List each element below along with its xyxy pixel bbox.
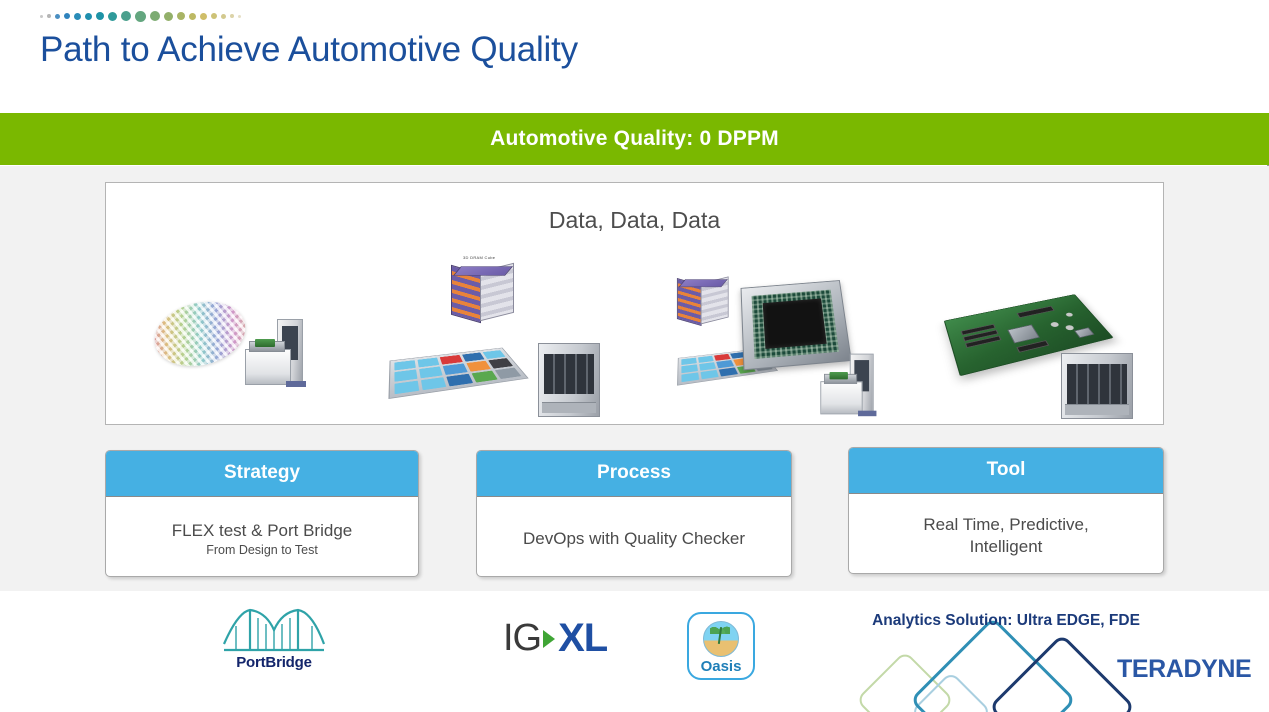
card-tool-text: Real Time, Predictive, Intelligent bbox=[886, 514, 1126, 557]
silicon-wafer-icon bbox=[154, 303, 246, 365]
logo-oasis: Oasis bbox=[687, 612, 755, 680]
decorative-dot bbox=[74, 13, 81, 20]
decorative-dot bbox=[221, 14, 226, 19]
slide-footer: PortBridge IG XL Oasis Analytics Solutio… bbox=[0, 591, 1269, 712]
die-map-cell bbox=[443, 364, 467, 375]
slide: Path to Achieve Automotive Quality Autom… bbox=[0, 0, 1269, 712]
card-tool-heading: Tool bbox=[849, 448, 1163, 494]
card-tool[interactable]: Tool Real Time, Predictive, Intelligent bbox=[848, 447, 1164, 574]
oasis-palm-icon bbox=[703, 621, 739, 657]
decorative-dot bbox=[40, 15, 43, 18]
play-arrow-icon bbox=[543, 630, 555, 648]
test-handler-icon bbox=[820, 354, 873, 415]
decorative-dot bbox=[200, 13, 207, 20]
decorative-dot bbox=[135, 11, 146, 22]
decorative-dot bbox=[177, 12, 185, 20]
suspension-bridge-icon bbox=[222, 604, 326, 654]
slide-body: Data, Data, Data 3D DRAM Cube bbox=[0, 166, 1269, 591]
die-map-icon bbox=[391, 338, 519, 400]
die-map-cell bbox=[488, 358, 513, 368]
die-map-cell bbox=[395, 380, 420, 394]
die-map-cell bbox=[719, 367, 738, 376]
die-map-cell bbox=[495, 367, 522, 379]
die-map-cell bbox=[681, 372, 699, 382]
decorative-dot bbox=[47, 14, 51, 18]
logo-oasis-label: Oasis bbox=[701, 658, 742, 675]
logo-igxl: IG XL bbox=[503, 616, 607, 661]
page-title: Path to Achieve Automotive Quality bbox=[40, 30, 578, 70]
decorative-dot bbox=[189, 13, 196, 20]
logo-portbridge: PortBridge bbox=[222, 604, 326, 654]
card-strategy-heading: Strategy bbox=[106, 451, 418, 497]
wafer-prober-icon bbox=[245, 319, 303, 385]
die-map-cell bbox=[421, 377, 447, 390]
slide-header: Path to Achieve Automotive Quality bbox=[0, 0, 1269, 113]
decorative-dot bbox=[55, 14, 60, 19]
decorative-dot bbox=[85, 13, 92, 20]
die-map-cell bbox=[447, 374, 473, 387]
automotive-quality-banner: Automotive Quality: 0 DPPM bbox=[0, 113, 1269, 165]
ict-tester-icon bbox=[1061, 353, 1133, 419]
die-map-cell bbox=[466, 361, 490, 372]
decorative-dot bbox=[238, 15, 241, 18]
die-map-cell bbox=[394, 370, 417, 382]
data-panel-title: Data, Data, Data bbox=[106, 207, 1163, 234]
decorative-dot bbox=[150, 11, 160, 21]
decorative-dot bbox=[211, 13, 217, 19]
stacked-memory-die-icon: 3D DRAM Cube bbox=[451, 263, 517, 325]
logo-portbridge-label: PortBridge bbox=[222, 654, 326, 671]
banner-label: Automotive Quality: 0 DPPM bbox=[490, 127, 779, 151]
data-panel: Data, Data, Data 3D DRAM Cube bbox=[105, 182, 1164, 425]
card-process-text: DevOps with Quality Checker bbox=[523, 528, 745, 549]
card-strategy-subtext: From Design to Test bbox=[206, 543, 318, 557]
decorative-dot bbox=[108, 12, 117, 21]
decorative-dot bbox=[164, 12, 173, 21]
card-strategy-text: FLEX test & Port Bridge bbox=[172, 520, 352, 541]
test-handler-icon bbox=[538, 343, 600, 417]
logo-teradyne: TERADYNE bbox=[1117, 655, 1251, 684]
die-map-cell bbox=[419, 367, 443, 379]
card-strategy[interactable]: Strategy FLEX test & Port Bridge From De… bbox=[105, 450, 419, 577]
card-process-heading: Process bbox=[477, 451, 791, 497]
analytics-solution-label: Analytics Solution: Ultra EDGE, FDE bbox=[856, 611, 1156, 632]
stacked-package-icon bbox=[677, 277, 731, 328]
die-map-cell bbox=[701, 370, 719, 380]
decorative-dot bbox=[121, 11, 131, 21]
decorative-dot-strip bbox=[40, 8, 241, 24]
die-label: 3D DRAM Cube bbox=[463, 255, 515, 260]
decorative-dot bbox=[96, 12, 104, 20]
logo-igxl-ig: IG bbox=[503, 617, 541, 660]
die-map-cell bbox=[471, 370, 497, 382]
logo-igxl-xl: XL bbox=[558, 616, 607, 661]
decorative-dot bbox=[230, 14, 234, 18]
card-process[interactable]: Process DevOps with Quality Checker bbox=[476, 450, 792, 577]
decorative-dot bbox=[64, 13, 70, 19]
